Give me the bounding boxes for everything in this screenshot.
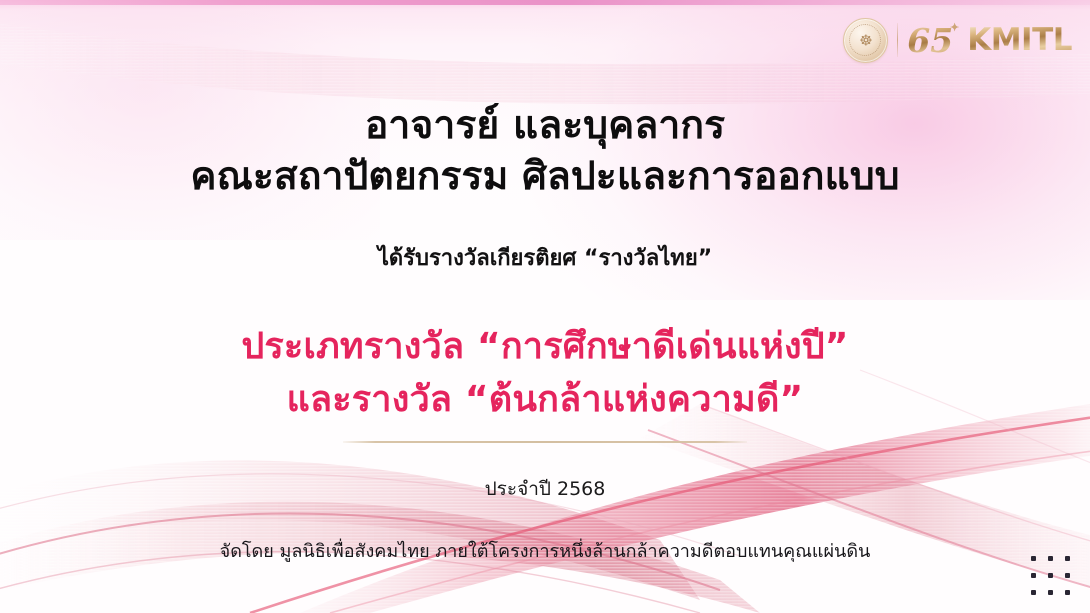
page-title: อาจารย์ และบุคลากร คณะสถาปัตยกรรม ศิลปะแ… (0, 101, 1090, 202)
page-subtitle: ได้รับรางวัลเกียรติยศ “รางวัลไทย” (0, 245, 1090, 274)
seal-glyph: ☸ (859, 33, 871, 48)
dot (1031, 590, 1036, 595)
logo-divider (897, 23, 898, 57)
dot (1031, 556, 1036, 561)
award-title-line-2: และรางวัล “ต้นกล้าแห่งความดี” (0, 373, 1090, 426)
dot (1048, 590, 1053, 595)
dot (1065, 556, 1070, 561)
dot (1048, 573, 1053, 578)
anniversary-65-mark: 65✦ (907, 24, 958, 57)
dot (1065, 590, 1070, 595)
dot (1065, 573, 1070, 578)
dot-grid-decoration (1031, 556, 1070, 595)
dot (1048, 556, 1053, 561)
dot (1031, 573, 1036, 578)
page-title-line-1: อาจารย์ และบุคลากร (365, 103, 725, 148)
royal-seal-icon: ☸ (843, 18, 888, 63)
award-title-line-1: ประเภทรางวัล “การศึกษาดีเด่นแห่งปี” (241, 326, 848, 367)
section-divider (343, 441, 747, 443)
kmitl-logo: ☸ 65✦ KMITL (843, 16, 1072, 64)
kmitl-wordmark: KMITL (967, 25, 1072, 56)
anniversary-number: 65 (907, 21, 953, 60)
award-year: ประจำปี 2568 (0, 477, 1090, 502)
award-title: ประเภทรางวัล “การศึกษาดีเด่นแห่งปี” และร… (0, 320, 1090, 427)
organizer-credit: จัดโดย มูลนิธิเพื่อสังคมไทย ภายใต้โครงกา… (0, 540, 1090, 563)
award-slide: ☸ 65✦ KMITL อาจารย์ และบุคลากร คณะสถาปัต… (0, 0, 1090, 613)
sparkle-icon: ✦ (950, 22, 959, 33)
page-title-line-2: คณะสถาปัตยกรรม ศิลปะและการออกแบบ (0, 152, 1090, 203)
